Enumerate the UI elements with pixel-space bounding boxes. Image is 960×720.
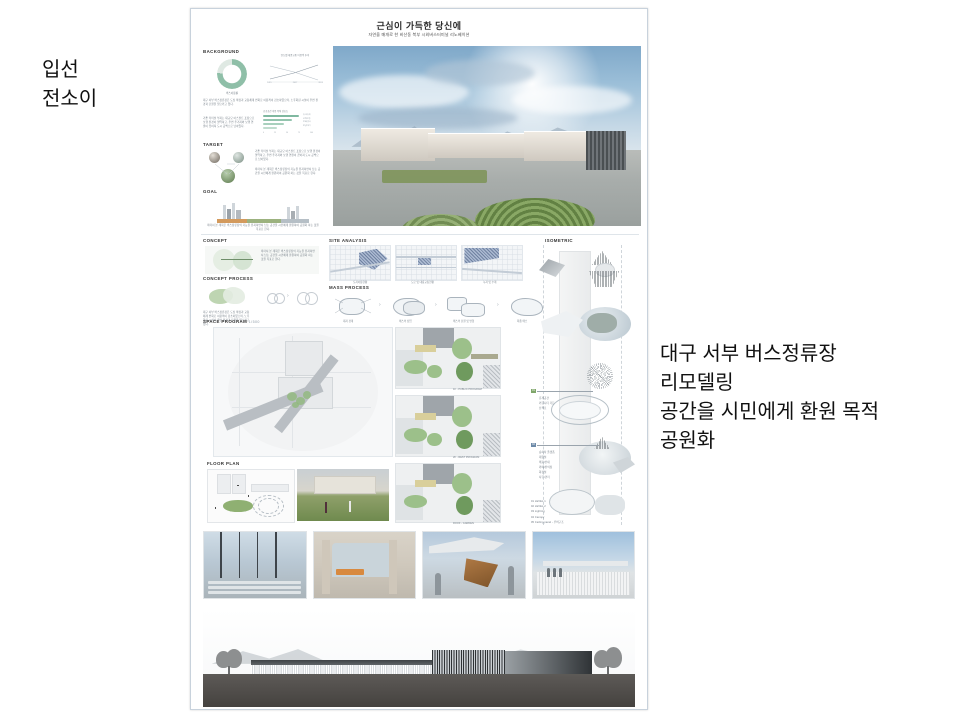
mini-plan-1f (395, 327, 501, 389)
tree (216, 648, 242, 674)
concept-blob (213, 249, 235, 271)
plan-green (456, 496, 473, 515)
mullion (257, 532, 259, 578)
city-block (287, 207, 290, 219)
city-block (227, 209, 231, 219)
arrow-icon: › (287, 293, 289, 299)
section-label-goal: GOAL (203, 189, 217, 194)
elevation-fins (432, 650, 505, 674)
line-chart-transit-trend: 연도별 대중교통 이용객 추이 2015 2017 2019 (267, 57, 323, 85)
step-circle (274, 293, 285, 304)
render-image-plaza-ramp (422, 531, 526, 599)
figure (559, 568, 562, 577)
concept-paragraph: 따라서 본 계획은 버스정류장의 기능을 유지하면서 남는 공간을 시민에게 환… (261, 250, 315, 262)
goal-zone-urban (281, 219, 309, 223)
plan-green (404, 428, 427, 441)
bar-chart-space-preference: 공공공간 이용 목적 선호도 025 5075 100 휴식/휴게 산책/운동 … (263, 113, 323, 137)
mass-step-1 (331, 295, 375, 317)
plan-hatch (483, 365, 500, 388)
poster-content: 근심이 가득한 당신에 자연을 매개로 한 비산동 북부 시외버스터미널 리노베… (195, 13, 643, 705)
plan-hatch (483, 433, 500, 456)
city-block (223, 205, 226, 219)
render-figure (325, 502, 328, 512)
render-image-platform (313, 531, 417, 599)
goal-caption: 따라서 본 계획은 버스정류장의 기능을 유지하면서 남는 공간을 시민에게 환… (207, 224, 319, 232)
bar (263, 115, 299, 117)
site-map-caption: 도로 및 대중교통현황 (411, 280, 434, 284)
legend-marker-02: 02 (531, 443, 536, 447)
mullion (220, 532, 222, 578)
mini-plan-caption: 1F - PUBLIC PROGRAM (453, 388, 482, 391)
plan-green (456, 362, 473, 381)
plan-ring (258, 498, 279, 514)
mini-plan-roof (395, 463, 501, 523)
pie-chart-bus-usage (217, 59, 247, 89)
level-note: 05 Ceiling panel - 루버구조 (531, 520, 601, 525)
plan-green (427, 365, 442, 378)
plan-column-grid (232, 474, 246, 494)
render-image-exterior-colonnade (532, 531, 636, 599)
lawn-area (382, 170, 487, 183)
level-core (587, 313, 617, 333)
colonnade (537, 572, 630, 596)
section-label-target: TARGET (203, 142, 223, 147)
plan-green (452, 338, 472, 360)
space-program-scale: 1/500 (249, 320, 260, 324)
plan-green (456, 430, 473, 449)
guide-line (543, 245, 544, 525)
plan-hatch (483, 500, 500, 522)
pillar (389, 540, 397, 594)
poster-image[interactable]: 근심이 가득한 당신에 자연을 매개로 한 비산동 북부 시외버스터미널 리노베… (190, 8, 648, 710)
guide-line (621, 245, 622, 525)
mini-plan-2f (395, 395, 501, 457)
site-map-caption: 녹지 및 수계 (483, 280, 496, 284)
arrow-icon: › (497, 302, 499, 308)
goal-zone-existing (217, 219, 247, 223)
plan-green (452, 473, 472, 494)
elevation-ground (203, 674, 635, 707)
step-circle (305, 292, 318, 305)
concept-process-blob (205, 285, 255, 309)
concept-diagram: 따라서 본 계획은 버스정류장의 기능을 유지하면서 남는 공간을 시민에게 환… (205, 246, 319, 274)
mass-blob (403, 301, 425, 315)
space-program-site-plan (213, 327, 393, 457)
background-paragraph-2: 기존 터미널 부지는 대규모 아스팔트 포장으로 보행 환경이 열악하고, 주변… (203, 117, 255, 129)
target-paragraph: 기존 터미널 부지는 대규모 아스팔트 포장으로 보행 환경이 열악하고, 주변… (255, 150, 321, 162)
plan-green (303, 391, 311, 399)
bar-axis-tick: 100 (310, 132, 313, 134)
goal-zone-park (247, 219, 281, 223)
line-chart-svg (267, 61, 323, 83)
bar-chart-title: 공공공간 이용 목적 선호도 (263, 109, 288, 113)
bar-axis-tick: 50 (286, 132, 288, 134)
bar (263, 119, 292, 121)
tree (594, 646, 622, 674)
cloud (358, 107, 518, 129)
plan-marker (248, 495, 250, 497)
pillar (322, 540, 330, 594)
render-figure (349, 501, 352, 511)
target-paragraph-2: 따라서 본 계획은 버스정류장의 기능을 유지하면서 남는 공간을 시민에게 환… (255, 168, 321, 176)
section-label-isometric: ISOMETRIC (545, 238, 573, 243)
render-strip (203, 531, 635, 599)
bar-chart-legend: 휴식/휴게 산책/운동 문화/행사 만남/대기 (303, 114, 310, 128)
goal-diagram (217, 199, 309, 223)
line-tick: 2019 (319, 82, 323, 84)
target-connector (207, 161, 251, 181)
legend-item: 사무/관리 (539, 476, 581, 481)
bar (263, 123, 284, 125)
legend-list-02: 승하차 플랫폼 대합실 매표/안내 카페/편의점 화장실 사무/관리 (539, 451, 581, 481)
space-program-label: SPACE PROGRAM (203, 319, 247, 324)
city-block (296, 206, 299, 219)
concept-blob (233, 251, 252, 270)
site-map-transport (395, 245, 457, 281)
map-road (396, 256, 456, 257)
section-label-space-program: SPACE PROGRAM 1/500 (203, 319, 260, 324)
bar-axis-tick: 75 (298, 132, 300, 134)
bench (208, 586, 301, 589)
bar-axis-tick: 25 (274, 132, 276, 134)
arrow-icon: › (379, 302, 381, 308)
canopy (429, 537, 504, 559)
plan-zone-yellow (415, 345, 436, 352)
elevation-glazing (251, 665, 432, 674)
pie-chart-title: 버스이용률 (213, 91, 251, 95)
section-label-background: BACKGROUND (203, 49, 239, 54)
render-building (314, 476, 377, 494)
plan-platform (251, 484, 289, 492)
plan-slab (471, 354, 498, 359)
mass-caption: 매스의 분절 및 변형 (453, 319, 474, 323)
section-label-mass-process: MASS PROCESS (329, 285, 369, 290)
isometric-diagram (525, 245, 643, 525)
bench (208, 591, 301, 594)
timber-ramp (464, 558, 499, 587)
line-tick: 2015 (267, 82, 271, 84)
building-mass (361, 128, 435, 161)
mini-plan-caption: ROOF - GARDEN (453, 522, 474, 525)
tree-trunk (607, 666, 608, 674)
plan-zone-yellow (415, 413, 436, 420)
render-image-interior-waiting (203, 531, 307, 599)
plan-line (239, 338, 240, 446)
figure (553, 568, 556, 577)
mini-plan-caption: 2F - REST PROGRAM (453, 456, 479, 459)
section-label-concept-process: CONCEPT PROCESS (203, 276, 253, 281)
bar-axis-tick: 0 (263, 132, 264, 134)
mullion (275, 532, 277, 578)
line-chart-title: 연도별 대중교통 이용객 추이 (267, 53, 323, 57)
plan-zone-yellow (415, 480, 436, 487)
mullion (239, 532, 241, 578)
arrow-icon: › (435, 302, 437, 308)
bar (263, 127, 277, 129)
tree-crown (605, 647, 622, 668)
plan-marker (215, 507, 217, 509)
city-block (236, 210, 241, 219)
bus (336, 569, 364, 575)
section-label-site-analysis: SITE ANALYSIS (329, 238, 367, 243)
blob (223, 287, 245, 304)
roof-plane (543, 561, 628, 566)
elevation-drawing (203, 609, 635, 707)
plan-lawn (223, 500, 252, 511)
concept-axis (221, 259, 253, 260)
figure (435, 573, 441, 595)
louver-fan (589, 271, 619, 287)
legend-marker-01: 01 (531, 389, 536, 393)
building-mass (428, 133, 527, 157)
bench (208, 581, 301, 584)
city-block (232, 203, 235, 219)
louver-facade (586, 131, 626, 171)
legend-item: 만남/대기 (303, 125, 310, 129)
site-map-green (461, 245, 523, 281)
figure (547, 568, 550, 577)
caption-right: 대구 서부 버스정류장 리모델링 공간을 시민에게 환원 목적 공원화 (660, 340, 879, 456)
mass-caption: 매스의 삽입 (399, 319, 412, 323)
site-map-land-use (329, 245, 391, 281)
floor-plan-drawing (207, 469, 295, 523)
section-label-concept: CONCEPT (203, 238, 227, 243)
plan-green (404, 360, 427, 373)
legend-list-01: 휴게공간 커뮤니티 가든 산책로 (539, 397, 581, 412)
plan-marker (237, 485, 239, 487)
poster-subtitle: 자연을 매개로 한 비산동 북부 시외버스터미널 리노베이션 (195, 32, 643, 38)
divider (201, 234, 639, 235)
background-paragraph-1: 대구 서부 버스정류장은 도심 확장과 교통체계 변화로 이용객이 감소하였으며… (203, 99, 319, 107)
building-mass (524, 131, 592, 161)
plan-column-grid (217, 474, 231, 494)
plan-green (427, 433, 442, 446)
line-tick: 2017 (293, 82, 297, 84)
caption-left: 입선 전소이 (42, 56, 97, 114)
plan-green (404, 495, 427, 508)
slide-canvas: 입선 전소이 대구 서부 버스정류장 리모델링 공간을 시민에게 환원 목적 공… (0, 0, 960, 720)
section-label-floor-plan: FLOOR PLAN (207, 461, 240, 466)
city-block (291, 211, 295, 219)
site-map-caption: 토지이용현황 (353, 280, 367, 284)
plan-green (452, 406, 472, 428)
cloud (512, 86, 632, 114)
legend-item: 휴식/휴게 (303, 114, 310, 118)
poster-title: 근심이 가득한 당신에 (195, 19, 643, 32)
mass-blob (461, 303, 485, 317)
map-road (396, 267, 456, 268)
legend-item: 산책로 (539, 407, 581, 412)
level-notes: 01 LEVEL 1 02 LEVEL 2 03 Lighting 04 Can… (531, 499, 601, 525)
concept-process-steps: › (267, 287, 321, 307)
mass-step-3 (443, 295, 493, 317)
sunburst-structure (587, 363, 613, 389)
tree-trunk (228, 666, 229, 674)
floor-plan-render-image (297, 469, 389, 521)
elevation-dark-mass (505, 651, 591, 674)
hero-render-image (333, 46, 641, 226)
mass-step-2 (387, 295, 431, 317)
mass-caption: 대지 경계 (343, 319, 353, 323)
figure (508, 566, 514, 595)
mass-arrows (331, 295, 375, 317)
